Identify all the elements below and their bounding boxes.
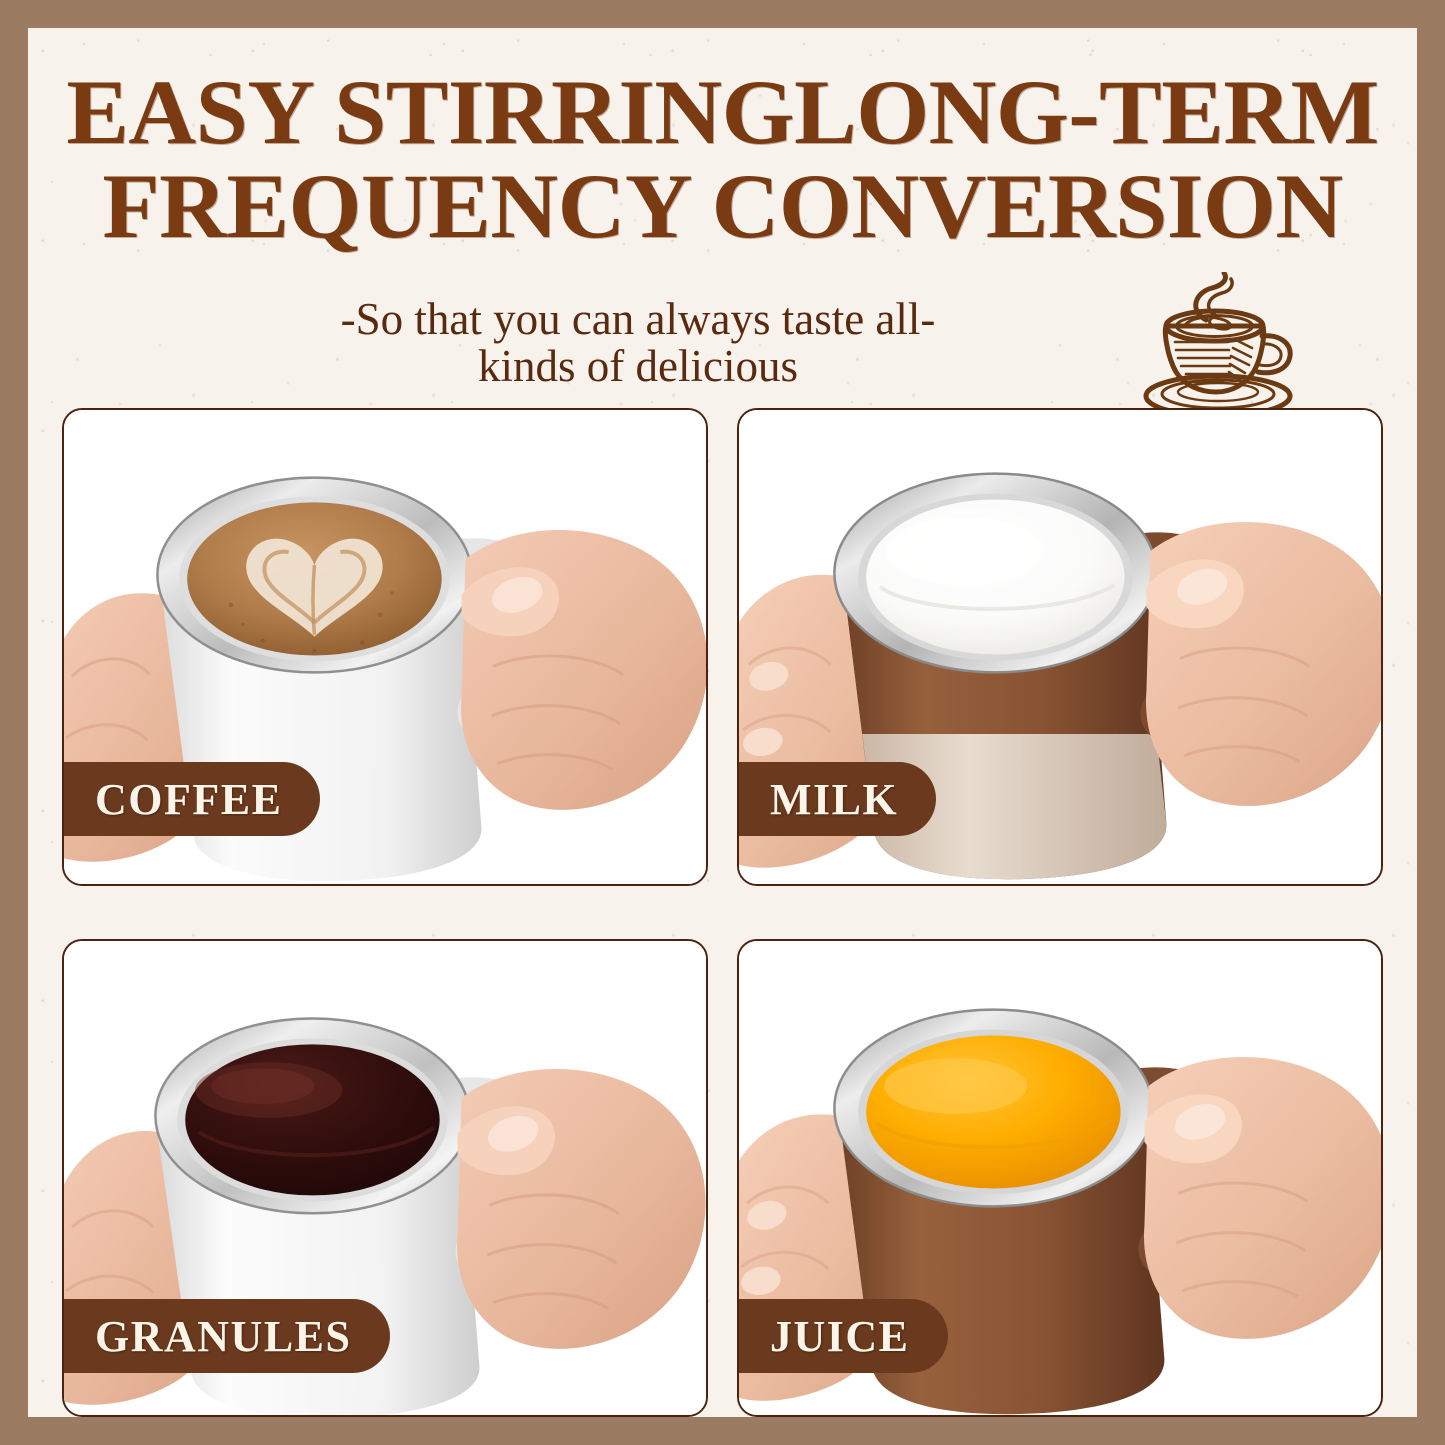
- badge-granules: GRANULES: [62, 1299, 390, 1373]
- poster-page: EASY STIRRINGLONG-TERM FREQUENCY CONVERS…: [28, 28, 1417, 1417]
- subtitle-line-2: kinds of delicious: [198, 343, 1078, 391]
- badge-coffee: COFFEE: [62, 762, 320, 836]
- badge-label-milk: MILK: [770, 774, 898, 825]
- product-image-grid: COFFEE: [62, 408, 1383, 1417]
- badge-juice: JUICE: [737, 1299, 948, 1373]
- badge-label-juice: JUICE: [770, 1311, 910, 1362]
- panel-milk[interactable]: MILK: [737, 408, 1383, 886]
- badge-milk: MILK: [737, 762, 936, 836]
- subtitle-line-1: -So that you can always taste all-: [198, 296, 1078, 344]
- steaming-coffee-cup-icon: [1140, 272, 1310, 420]
- page-title-line-2: FREQUENCY CONVERSION: [28, 160, 1417, 252]
- poster-root: EASY STIRRINGLONG-TERM FREQUENCY CONVERS…: [0, 0, 1445, 1445]
- panel-juice[interactable]: JUICE: [737, 939, 1383, 1417]
- panel-coffee[interactable]: COFFEE: [62, 408, 708, 886]
- badge-label-granules: GRANULES: [95, 1311, 352, 1362]
- badge-label-coffee: COFFEE: [95, 774, 282, 825]
- header: EASY STIRRINGLONG-TERM FREQUENCY CONVERS…: [28, 28, 1417, 408]
- panel-granules[interactable]: GRANULES: [62, 939, 708, 1417]
- page-title-line-1: EASY STIRRINGLONG-TERM: [28, 66, 1417, 158]
